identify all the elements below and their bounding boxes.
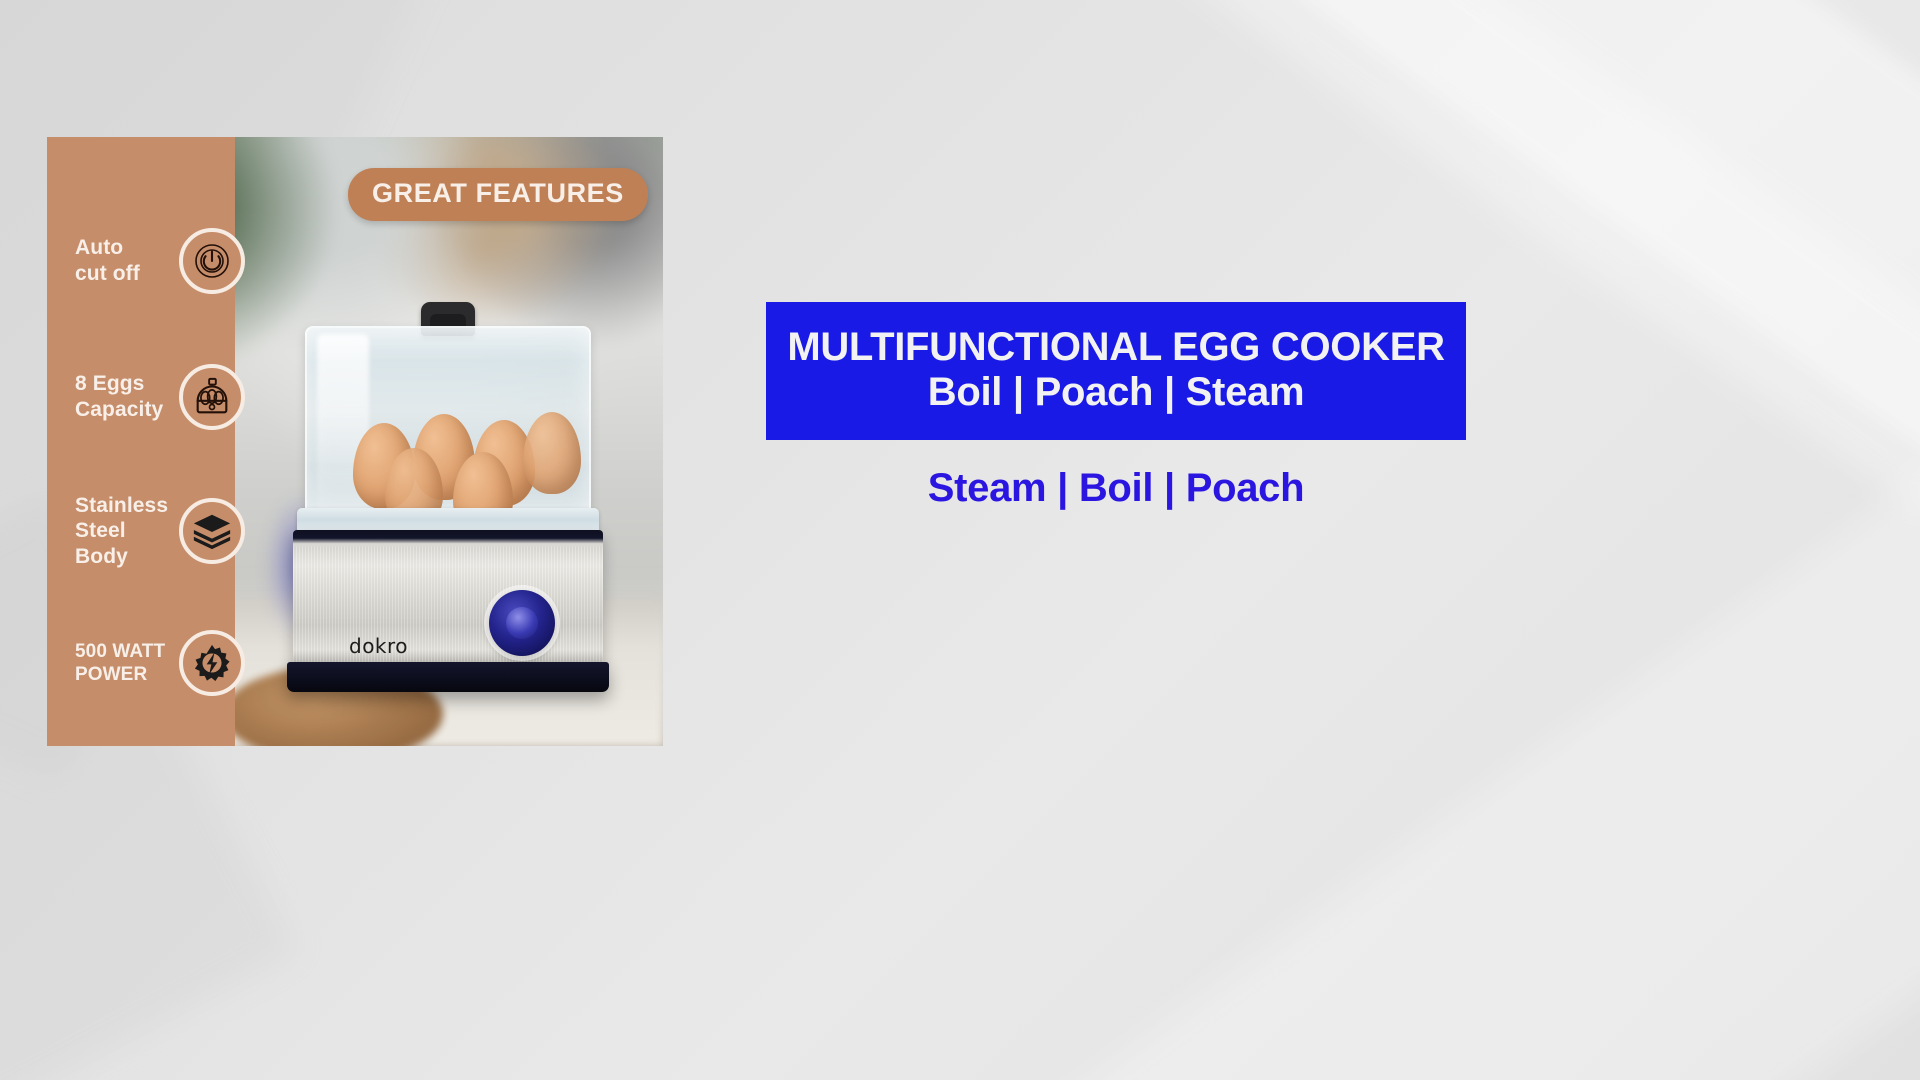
power-icon [179, 228, 245, 294]
feature-label-line1: 500 WATT [75, 641, 165, 662]
feature-row-wattage: 500 WATT POWER [47, 615, 277, 711]
great-features-badge: GREAT FEATURES [348, 168, 648, 221]
stainless-steel-body: dokro [293, 530, 603, 666]
feature-row-egg-capacity: 8 Eggs Capacity [47, 349, 277, 445]
headline-line-1: MULTIFUNCTIONAL EGG COOKER [787, 326, 1444, 368]
feature-label: 500 WATT POWER [47, 640, 179, 686]
feature-label: Stainless Steel Body [47, 493, 179, 570]
egg [523, 412, 581, 494]
feature-label: Auto cut off [47, 235, 179, 286]
feature-label-line2: Steel Body [75, 519, 128, 568]
feature-row-auto-cut-off: Auto cut off [47, 213, 277, 309]
product-feature-card: dokro Auto cut off 8 Eggs Capacity [47, 137, 663, 746]
feature-label-line1: Stainless [75, 494, 168, 517]
feature-row-stainless-steel: Stainless Steel Body [47, 483, 277, 579]
feature-label-line2: cut off [75, 262, 140, 285]
brand-logo: dokro [349, 634, 408, 658]
feature-label-line1: Auto [75, 236, 123, 259]
gear-bolt-icon [179, 630, 245, 696]
subheadline-text: Steam | Boil | Poach [766, 466, 1466, 511]
feature-label-line1: 8 Eggs [75, 372, 144, 395]
brushed-texture [293, 546, 603, 666]
appliance-base [287, 662, 609, 692]
headline-line-2: Boil | Poach | Steam [928, 368, 1304, 416]
transparent-lid [305, 326, 591, 516]
headline-block: MULTIFUNCTIONAL EGG COOKER Boil | Poach … [766, 302, 1466, 440]
control-knob [489, 590, 555, 656]
feature-label-line2: Capacity [75, 398, 163, 421]
layers-icon [179, 498, 245, 564]
feature-label: 8 Eggs Capacity [47, 371, 179, 422]
egg-cooker-appliance: dokro [283, 302, 613, 746]
feature-label-line2: POWER [75, 664, 147, 685]
egg-cooker-icon [179, 364, 245, 430]
